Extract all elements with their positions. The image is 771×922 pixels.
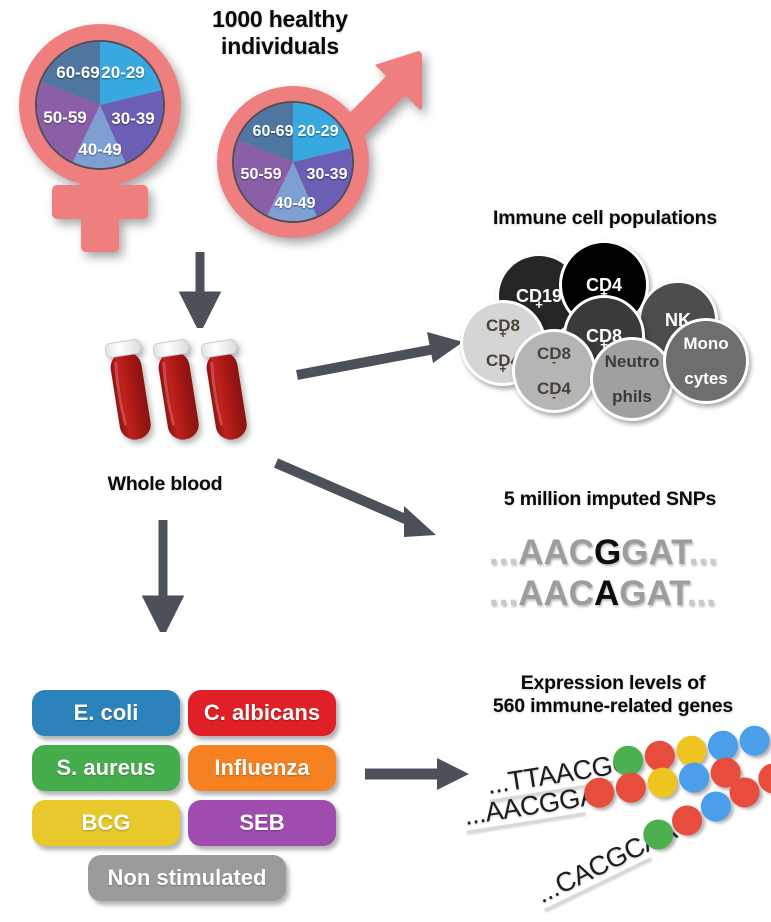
blood-tubes [100,330,260,460]
gene-dot [677,760,711,794]
neutrophils-line1: Neutro [605,353,660,370]
stimulus-label: Non stimulated [108,865,267,891]
snp2-left: AAC [518,574,594,613]
arrow-blood-to-stimuli [138,520,188,632]
immune-cell-neutrophils: Neutro phils [590,337,674,421]
stimulus-label: C. albicans [204,700,320,726]
blood-tube [105,339,155,442]
female-pie-label-30-39: 30-39 [111,109,154,129]
male-symbol: 20-29 30-39 40-49 50-59 60-69 [205,38,420,243]
stimulus-s-aureus[interactable]: S. aureus [32,745,180,791]
male-pie-label-60-69: 60-69 [253,123,294,141]
snp1-left: AAC [518,533,594,572]
snp-sequence-row-1: ...AACGGAT... [489,533,718,573]
snp1-suffix: ... [689,533,718,572]
monocytes-line1: Mono [683,335,728,352]
genes-title-line1: Expression levels of [455,672,771,695]
stimulus-seb[interactable]: SEB [188,800,336,846]
diagram-canvas: 1000 healthy individuals 20-29 30-39 40-… [0,0,771,922]
female-pie-label-60-69: 60-69 [56,63,99,83]
arrow-blood-to-snps [258,455,458,555]
stimulus-e-coli[interactable]: E. coli [32,690,180,736]
stimulus-label: S. aureus [56,755,155,781]
snp1-variant: G [594,533,621,572]
stimulus-non-stimulated[interactable]: Non stimulated [88,855,286,901]
immune-cell-cluster: CD19+ CD4+ NK CD8+ CD8+ CD4+ CD8- CD4- [460,240,760,410]
snp1-prefix: ... [489,533,518,572]
gene-dot [614,770,648,804]
snp2-right: GAT [619,574,686,613]
male-pie-label-50-59: 50-59 [241,166,282,184]
snp2-suffix: ... [687,574,716,613]
arrow-stimuli-to-genes [363,752,473,796]
snp-sequence-row-2: ...AACAGAT... [489,574,716,614]
stimulus-label: Influenza [214,755,309,781]
snp2-variant: A [594,574,619,613]
gene-dot [645,765,679,799]
immune-cell-cd8neg-cd4neg: CD8- CD4- [512,329,596,413]
male-pie-label-30-39: 30-39 [307,166,348,184]
gene-dot [737,724,771,758]
male-pie-label-20-29: 20-29 [298,123,339,141]
snps-title: 5 million imputed SNPs [455,488,765,511]
snp1-right: GAT [621,533,688,572]
blood-tube [201,339,251,442]
female-pie-label-40-49: 40-49 [78,140,121,160]
snp2-prefix: ... [489,574,518,613]
stimulus-label: BCG [82,810,131,836]
whole-blood-label: Whole blood [60,473,270,496]
neutrophils-line2: phils [605,388,660,405]
genes-title: Expression levels of 560 immune-related … [455,672,771,718]
stimulus-label: SEB [239,810,284,836]
blood-tube [153,339,203,442]
arrow-blood-to-immune [295,325,470,387]
female-pie-label-50-59: 50-59 [43,108,86,128]
stimulus-c-albicans[interactable]: C. albicans [188,690,336,736]
genes-title-line2: 560 immune-related genes [455,695,771,718]
female-pie-label-20-29: 20-29 [101,63,144,83]
female-cross-horizontal [52,185,148,219]
stimulus-influenza[interactable]: Influenza [188,745,336,791]
immune-cell-monocytes: Mono cytes [663,318,749,404]
stimulus-bcg[interactable]: BCG [32,800,180,846]
female-symbol: 20-29 30-39 40-49 50-59 60-69 [8,18,198,258]
stimulus-label: E. coli [74,700,139,726]
monocytes-line2: cytes [683,370,728,387]
male-pie-label-40-49: 40-49 [275,195,316,213]
immune-populations-title: Immune cell populations [440,207,770,230]
arrow-cohort-to-blood [175,252,225,328]
